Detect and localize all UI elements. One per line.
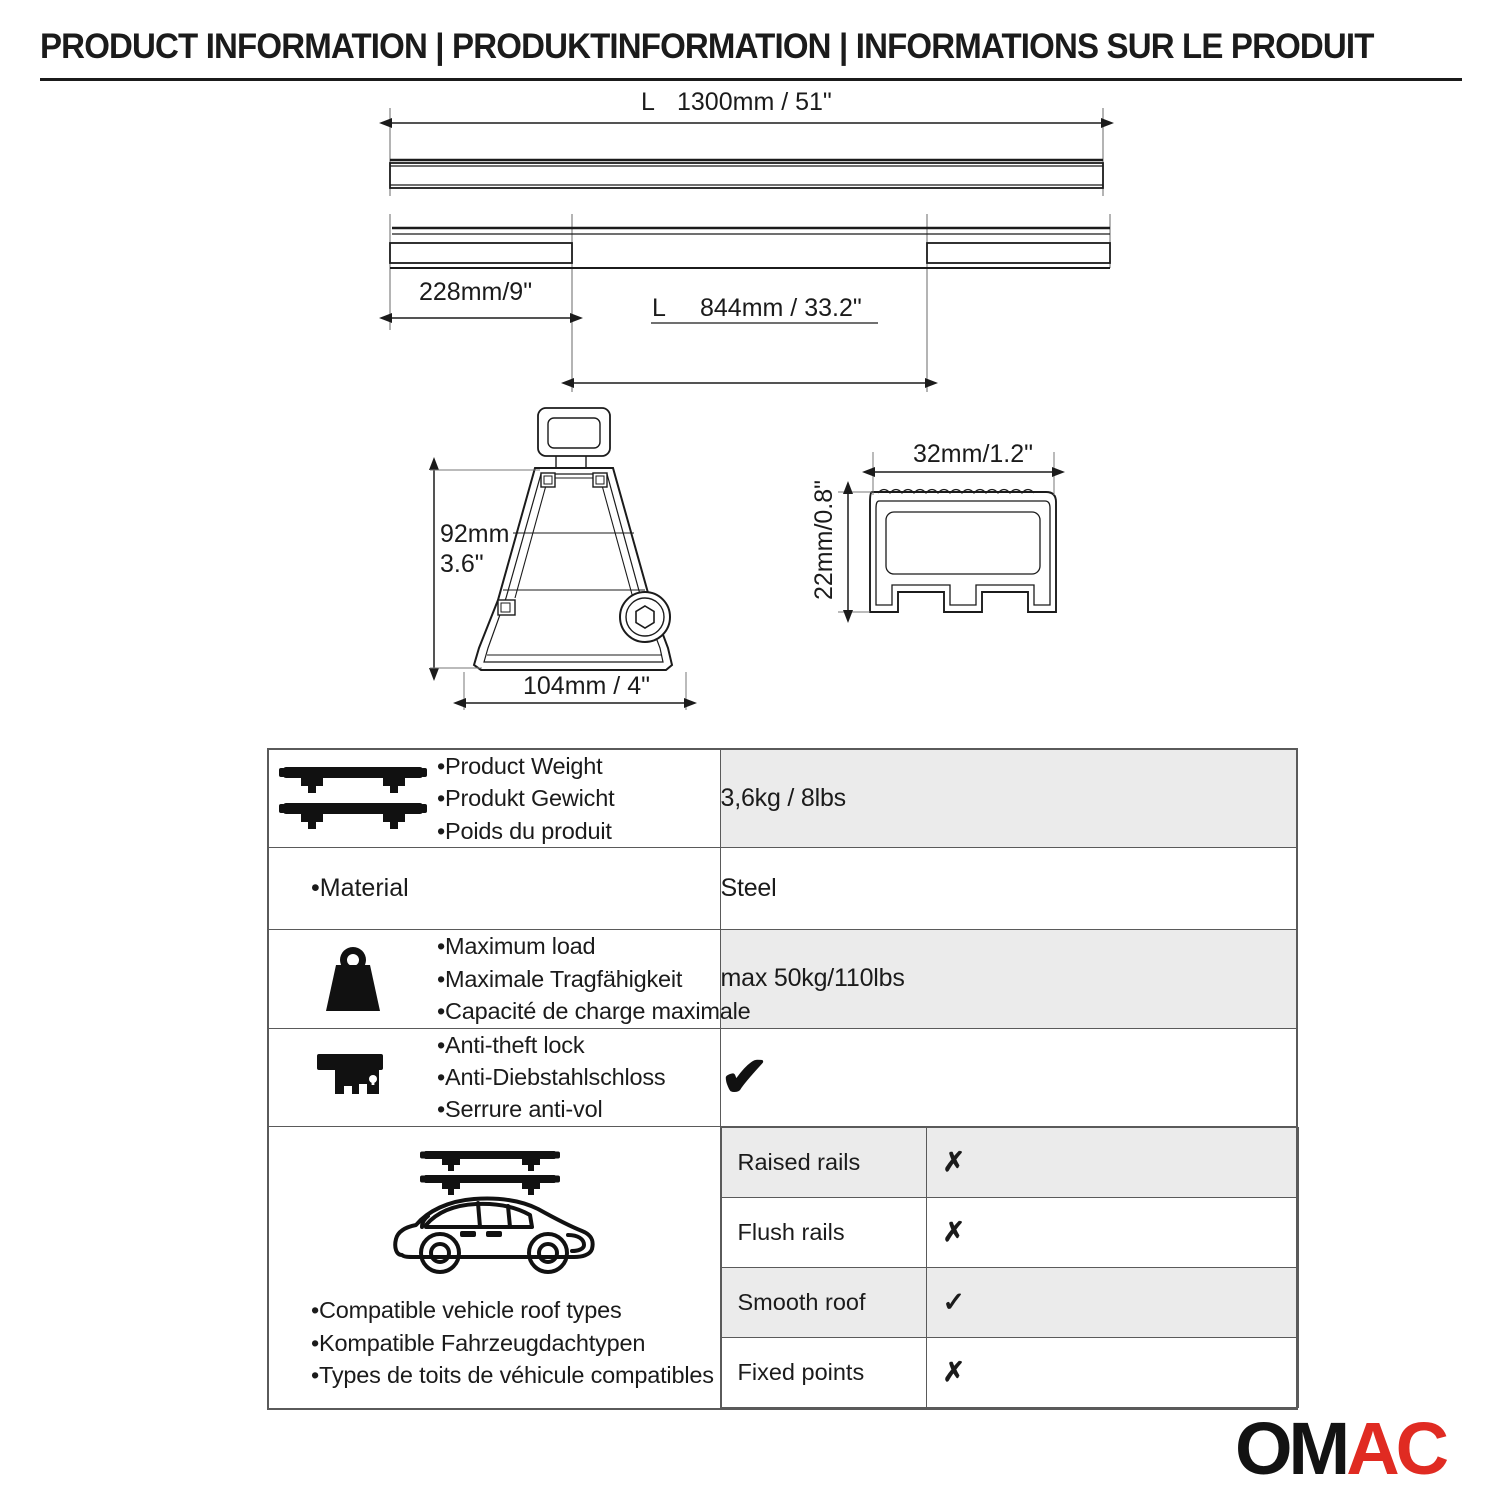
profile-height-value: 22mm/0.8"	[810, 480, 838, 600]
foot-offset-value: 228mm/9"	[419, 278, 532, 306]
roof-type-mark-cell: ✗	[926, 1127, 1298, 1197]
foot-height-value-mm: 92mm	[440, 520, 509, 548]
roof-type-name: Raised rails	[721, 1127, 926, 1197]
material-value: Steel	[721, 874, 777, 902]
foot-height-value-in: 3.6"	[440, 550, 484, 578]
label-line: •Anti-Diebstahlschloss	[437, 1061, 665, 1093]
table-row: •Anti-theft lock •Anti-Diebstahlschloss …	[268, 1028, 1297, 1126]
technical-drawing: L 1300mm / 51" 228mm/9" L 844mm / 33.2" …	[0, 0, 1500, 740]
car-with-roofbars-icon	[269, 1143, 720, 1288]
lock-label-list: •Anti-theft lock •Anti-Diebstahlschloss …	[437, 1029, 665, 1126]
weight-value: 3,6kg / 8lbs	[721, 784, 846, 812]
subtable-row: Raised rails ✗	[721, 1127, 1298, 1197]
roof-type-mark-cell: ✗	[926, 1197, 1298, 1267]
table-row: •Product Weight •Produkt Gewicht •Poids …	[268, 749, 1297, 848]
bar-length-value: 1300mm / 51"	[677, 88, 832, 116]
roof-types-label-cell: •Compatible vehicle roof types •Kompatib…	[268, 1126, 720, 1409]
logo-text-dark: OM	[1235, 1407, 1346, 1490]
label-line: •Types de toits de véhicule compatibles	[311, 1359, 720, 1391]
label-line: •Poids du produit	[437, 815, 614, 847]
label-line: •Product Weight	[437, 750, 614, 782]
cross-mark-icon: ✗	[943, 1147, 966, 1178]
material-row-label-cell: •Material	[268, 848, 720, 930]
weight-value-cell: 3,6kg / 8lbs	[720, 749, 1297, 848]
weight-label-list: •Product Weight •Produkt Gewicht •Poids …	[437, 750, 614, 847]
omac-logo: OMAC	[1235, 1412, 1445, 1486]
label-line: •Capacité de charge maximale	[437, 995, 751, 1027]
weight-row-label-cell: •Product Weight •Produkt Gewicht •Poids …	[268, 749, 720, 848]
maxload-value: max 50kg/110lbs	[721, 964, 905, 992]
material-label: •Material	[269, 874, 720, 903]
label-line: •Kompatible Fahrzeugdachtypen	[311, 1327, 720, 1359]
lock-value-cell: ✔	[720, 1028, 1297, 1126]
roof-types-subtable: Raised rails ✗ Flush rails ✗	[721, 1127, 1299, 1408]
profile-width-value: 32mm/1.2"	[913, 440, 1033, 468]
maxload-label-list: •Maximum load •Maximale Tragfähigkeit •C…	[437, 930, 751, 1027]
spread-value: 844mm / 33.2"	[700, 294, 862, 322]
label-line: •Serrure anti-vol	[437, 1093, 665, 1125]
material-value-cell: Steel	[720, 848, 1297, 930]
label-line: •Maximum load	[437, 930, 751, 962]
label-line: •Anti-theft lock	[437, 1029, 665, 1061]
check-mark-icon: ✓	[943, 1287, 966, 1318]
foot-width-value: 104mm / 4"	[523, 672, 650, 700]
cross-mark-icon: ✗	[943, 1217, 966, 1248]
roof-type-name: Flush rails	[721, 1197, 926, 1267]
check-mark-icon: ✔	[719, 1049, 768, 1105]
roof-types-label-list: •Compatible vehicle roof types •Kompatib…	[269, 1294, 720, 1391]
table-row: •Maximum load •Maximale Tragfähigkeit •C…	[268, 930, 1297, 1028]
label-line: •Produkt Gewicht	[437, 782, 614, 814]
cross-mark-icon: ✗	[943, 1357, 966, 1388]
maxload-value-cell: max 50kg/110lbs	[720, 930, 1297, 1028]
subtable-row: Flush rails ✗	[721, 1197, 1298, 1267]
lock-icon	[269, 1046, 437, 1108]
spread-label: L	[652, 294, 666, 322]
maxload-row-label-cell: •Maximum load •Maximale Tragfähigkeit •C…	[268, 930, 720, 1028]
lock-row-label-cell: •Anti-theft lock •Anti-Diebstahlschloss …	[268, 1028, 720, 1126]
specification-table: •Product Weight •Produkt Gewicht •Poids …	[267, 748, 1298, 1410]
table-row: •Material Steel	[268, 848, 1297, 930]
label-line: •Compatible vehicle roof types	[311, 1294, 720, 1326]
roof-type-name: Smooth roof	[721, 1267, 926, 1337]
subtable-row: Fixed points ✗	[721, 1337, 1298, 1407]
subtable-row: Smooth roof ✓	[721, 1267, 1298, 1337]
roof-type-mark-cell: ✓	[926, 1267, 1298, 1337]
product-information-sheet: PRODUCT INFORMATION | PRODUKTINFORMATION…	[0, 0, 1500, 1500]
bar-length-label: L	[641, 88, 655, 116]
roof-type-name: Fixed points	[721, 1337, 926, 1407]
crossbars-icon	[269, 763, 437, 835]
logo-text-accent: AC	[1346, 1407, 1445, 1490]
label-line: •Maximale Tragfähigkeit	[437, 963, 751, 995]
roof-types-subtable-cell: Raised rails ✗ Flush rails ✗	[720, 1126, 1297, 1409]
roof-type-mark-cell: ✗	[926, 1337, 1298, 1407]
table-row-roof-types: •Compatible vehicle roof types •Kompatib…	[268, 1126, 1297, 1409]
weight-icon	[269, 941, 437, 1017]
